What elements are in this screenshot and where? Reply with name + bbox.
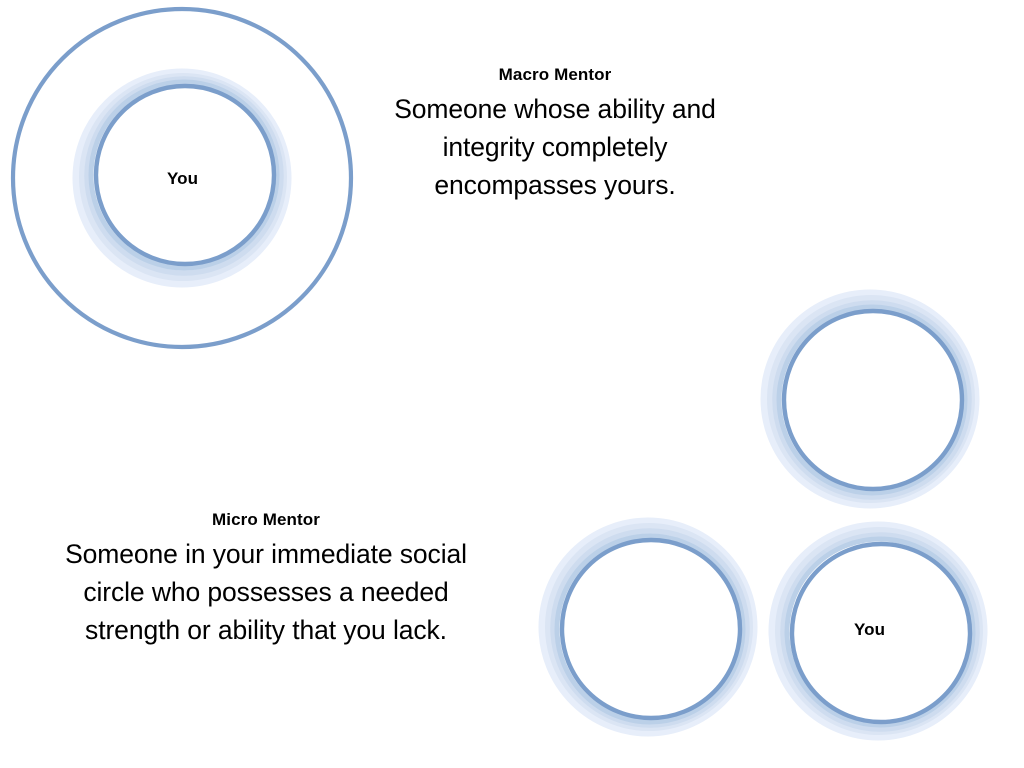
diagram-canvas: You Macro Mentor Someone whose ability a… [0, 0, 1024, 768]
micro-mentor-title: Micro Mentor [40, 509, 492, 530]
micro-mentor-text-block: Micro Mentor Someone in your immediate s… [40, 509, 492, 649]
micro-mentor-circle-top [760, 288, 982, 510]
micro-mentor-circle-left [534, 512, 766, 744]
micro-you-label: You [854, 621, 885, 638]
macro-mentor-text-block: Macro Mentor Someone whose ability and i… [379, 64, 731, 204]
micro-mentor-description: Someone in your immediate social circle … [40, 536, 492, 649]
macro-mentor-description: Someone whose ability and integrity comp… [379, 91, 731, 204]
macro-mentor-title: Macro Mentor [379, 64, 731, 85]
macro-you-label: You [167, 170, 198, 187]
